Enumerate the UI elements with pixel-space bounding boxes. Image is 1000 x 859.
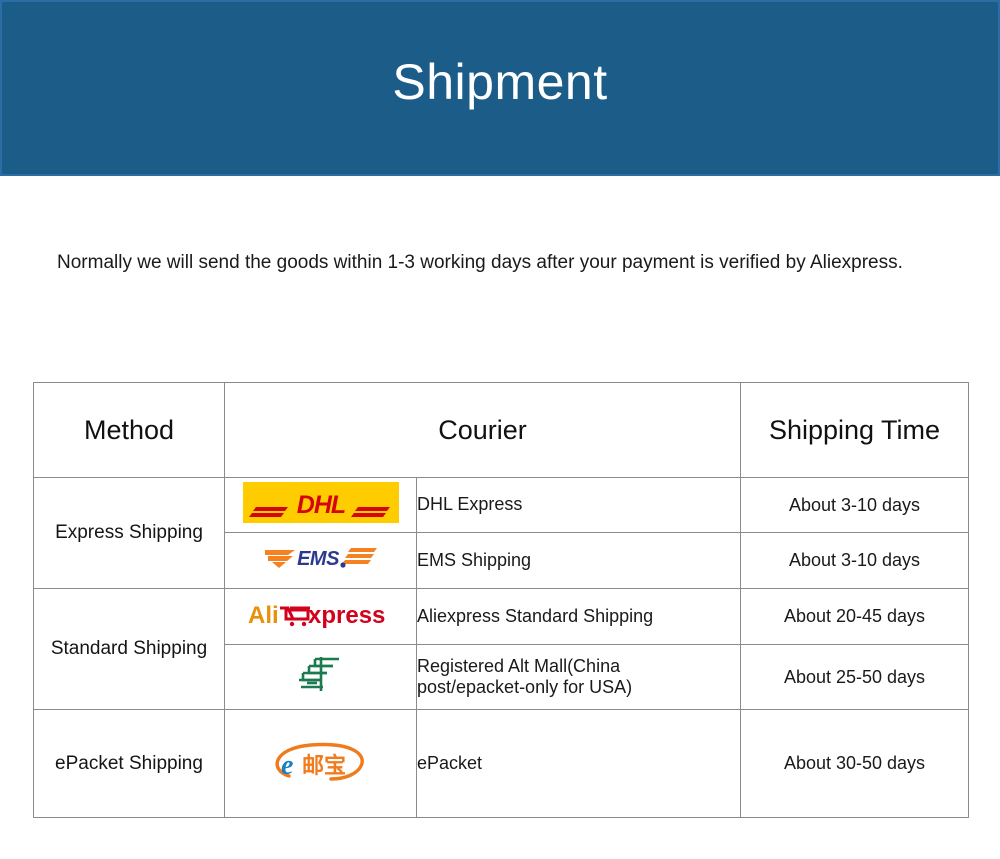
epacket-logo: e 邮宝 [269,736,373,786]
column-header-courier: Courier [225,383,741,478]
aliexpress-logo: Ali xpress [246,598,396,630]
shipping-time: About 25-50 days [741,645,969,710]
courier-name: DHL Express [417,478,741,533]
svg-text:邮宝: 邮宝 [302,753,346,779]
courier-logo-cell [225,645,417,710]
table-header-row: Method Courier Shipping Time [34,383,969,478]
ems-logo: EMS [263,541,378,575]
method-label-epacket: ePacket Shipping [34,710,225,818]
method-label-express: Express Shipping [34,478,225,589]
intro-paragraph: Normally we will send the goods within 1… [57,232,957,294]
svg-text:xpress: xpress [308,602,385,629]
courier-logo-cell: EMS [225,533,417,589]
svg-text:EMS: EMS [297,548,340,570]
svg-text:Ali: Ali [248,602,279,629]
table-row: Standard Shipping Ali xpress [34,589,969,645]
shipping-time: About 3-10 days [741,478,969,533]
shipping-time: About 3-10 days [741,533,969,589]
svg-text:DHL: DHL [296,491,344,519]
table-row: Express Shipping DHL [34,478,969,533]
shipping-time: About 20-45 days [741,589,969,645]
courier-name: Registered Alt Mall(China post/epacket-o… [417,645,741,710]
courier-name-line1: Registered Alt Mall(China [417,656,620,676]
shipping-methods-table: Method Courier Shipping Time Express Shi… [33,382,969,818]
courier-name: Aliexpress Standard Shipping [417,589,741,645]
china-post-logo [295,653,347,697]
courier-name: EMS Shipping [417,533,741,589]
courier-logo-cell: Ali xpress [225,589,417,645]
courier-logo-cell: e 邮宝 [225,710,417,818]
column-header-method: Method [34,383,225,478]
shipping-time: About 30-50 days [741,710,969,818]
column-header-shipping-time: Shipping Time [741,383,969,478]
courier-name: ePacket [417,710,741,818]
dhl-logo: DHL [243,482,399,523]
method-label-standard: Standard Shipping [34,589,225,710]
svg-text:e: e [281,750,293,781]
page-header-banner: Shipment [0,0,1000,176]
courier-name-line2: post/epacket-only for USA) [417,677,632,697]
table-row: ePacket Shipping e 邮宝 ePacket About 30-5… [34,710,969,818]
courier-logo-cell: DHL [225,478,417,533]
page-title: Shipment [392,57,607,107]
